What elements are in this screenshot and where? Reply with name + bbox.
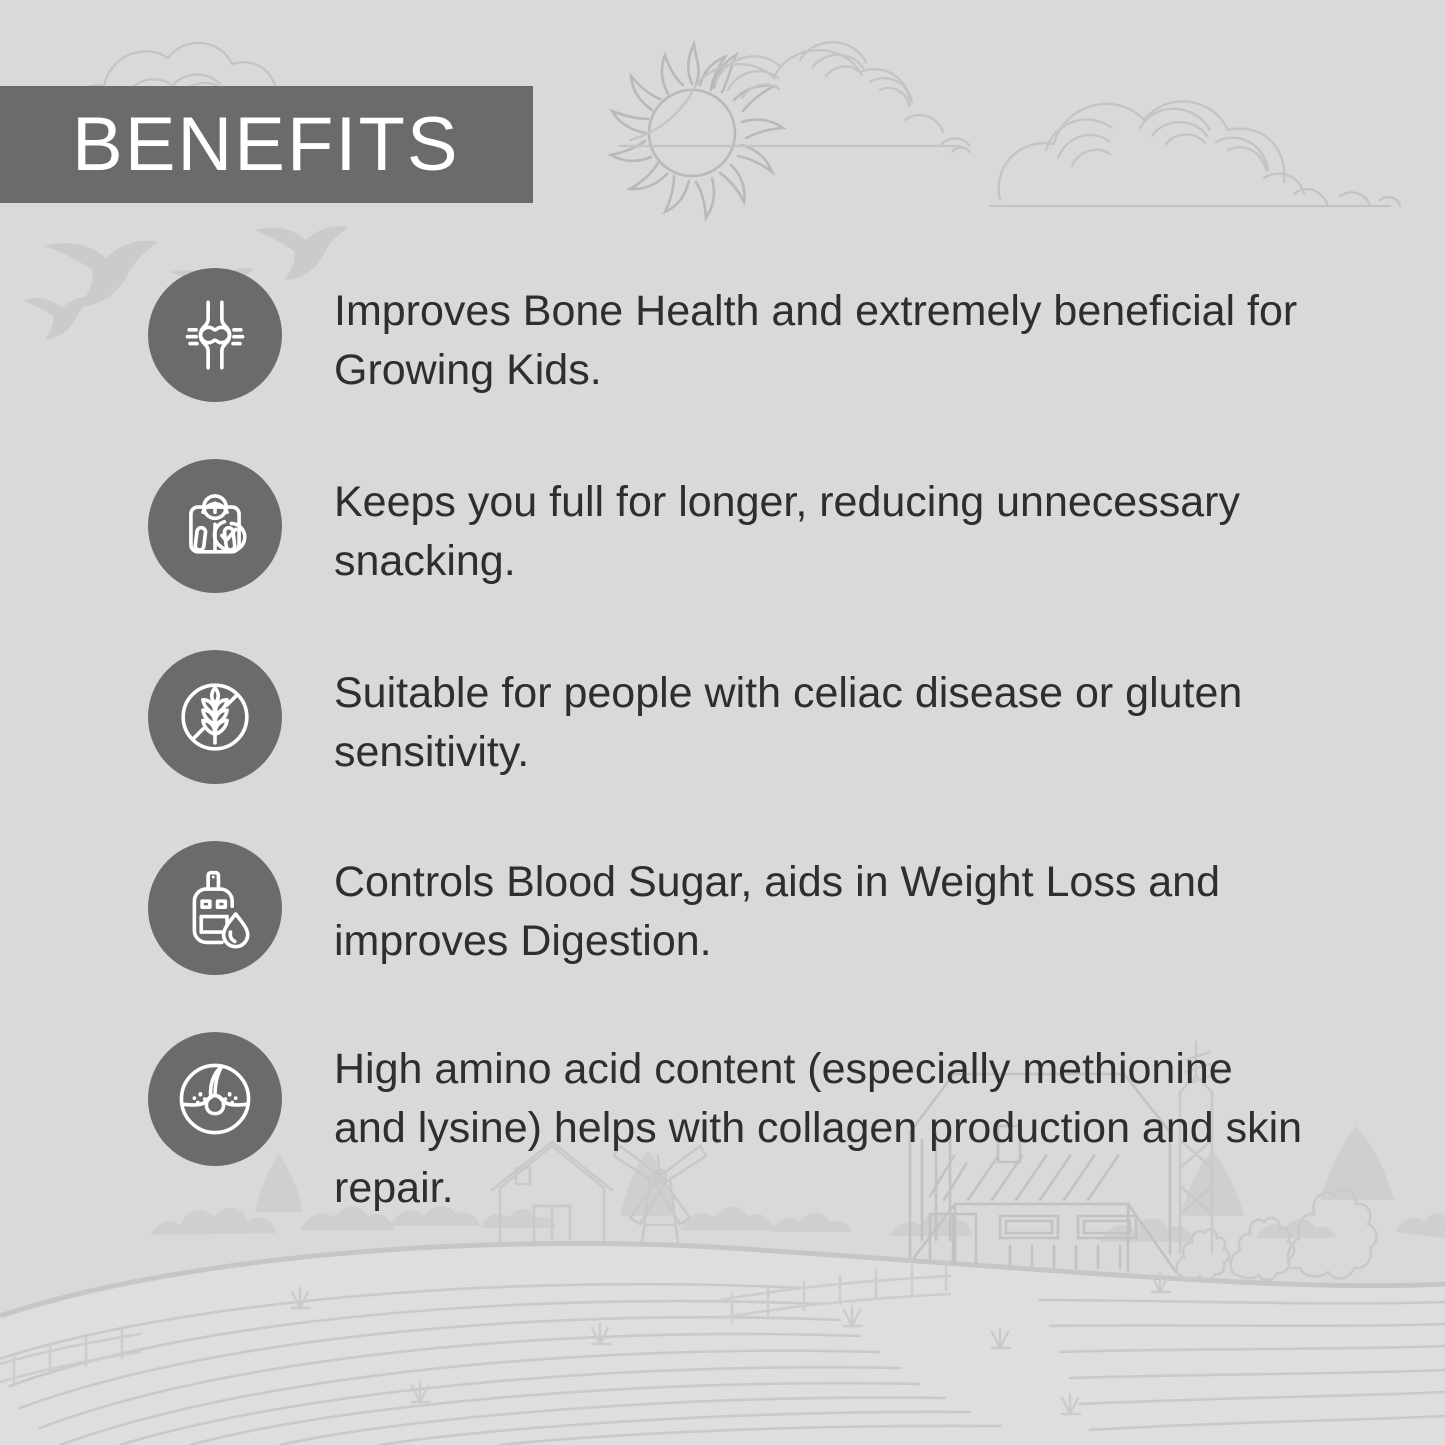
- grass-tuft-illustration: [292, 1272, 1170, 1414]
- benefit-text: Suitable for people with celiac disease …: [334, 664, 1309, 783]
- benefit-text: High amino acid content (especially meth…: [334, 1040, 1309, 1218]
- benefit-icon-badge: [148, 650, 282, 784]
- list-item: Keeps you full for longer, reducing unne…: [0, 459, 1445, 593]
- cloud-illustration: [990, 101, 1400, 206]
- list-item: High amino acid content (especially meth…: [0, 1032, 1445, 1218]
- benefit-icon-badge: [148, 841, 282, 975]
- gluten-free-icon: [172, 674, 258, 760]
- list-item: Controls Blood Sugar, aids in Weight Los…: [0, 841, 1445, 975]
- sun-illustration: [611, 44, 783, 218]
- fence-illustration: [0, 1262, 950, 1382]
- infographic-canvas: BENEFITS Improves Bone Health and extrem…: [0, 0, 1445, 1445]
- benefit-text: Controls Blood Sugar, aids in Weight Los…: [334, 853, 1309, 972]
- list-item: Suitable for people with celiac disease …: [0, 650, 1445, 784]
- page-title: BENEFITS: [72, 107, 460, 183]
- benefit-icon-badge: [148, 1032, 282, 1166]
- farm-field-illustration: [0, 1284, 1445, 1445]
- list-item: Improves Bone Health and extremely benef…: [0, 268, 1445, 402]
- benefits-list: Improves Bone Health and extremely benef…: [0, 268, 1445, 1218]
- weight-scale-check-icon: [172, 483, 258, 569]
- bone-joint-icon: [172, 292, 258, 378]
- benefit-icon-badge: [148, 268, 282, 402]
- hair-follicle-skin-icon: [172, 1056, 258, 1142]
- section-title-bar: BENEFITS: [0, 86, 533, 203]
- cloud-illustration: [620, 42, 970, 152]
- glucometer-blood-drop-icon: [172, 865, 258, 951]
- benefit-icon-badge: [148, 459, 282, 593]
- benefit-text: Improves Bone Health and extremely benef…: [334, 282, 1309, 401]
- benefit-text: Keeps you full for longer, reducing unne…: [334, 473, 1309, 592]
- farm-field-illustration: [0, 1243, 1445, 1445]
